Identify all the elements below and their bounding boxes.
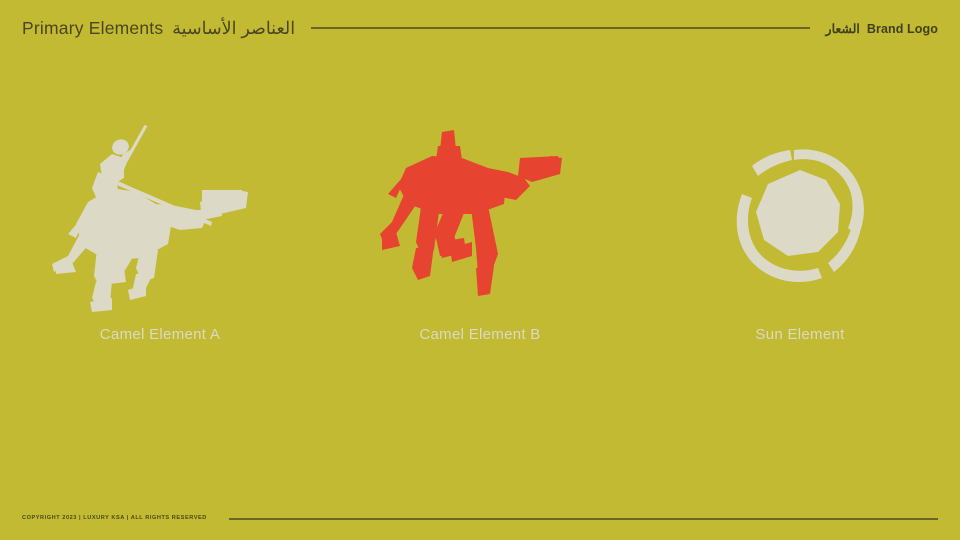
slide-header: Primary Elements العناصر الأساسية الشعار… [0,0,960,58]
brand-logo: الشعار Brand Logo [826,23,938,36]
brand-logo-en: Brand Logo [867,23,938,36]
primary-elements-row: Camel Element A [0,108,960,378]
page-title-en: Primary Elements [22,20,163,38]
sun-icon [720,108,880,323]
element-label: Camel Element A [100,327,220,342]
element-card-sun[interactable]: Sun Element [640,108,960,378]
element-card-camel-b[interactable]: Camel Element B [320,108,640,378]
brand-guidelines-slide: Primary Elements العناصر الأساسية الشعار… [0,0,960,540]
page-title-ar: العناصر الأساسية [172,20,295,38]
element-label: Sun Element [755,327,844,342]
brand-logo-ar: الشعار [826,23,860,36]
page-title: Primary Elements العناصر الأساسية [22,20,295,38]
footer-divider [229,518,938,520]
element-card-camel-a[interactable]: Camel Element A [0,108,320,378]
header-divider [311,27,809,29]
slide-footer: COPYRIGHT 2023 | LUXURY KSA | ALL RIGHTS… [0,498,960,540]
copyright-text: COPYRIGHT 2023 | LUXURY KSA | ALL RIGHTS… [22,516,207,522]
camel-with-rider-icon [50,108,270,323]
element-label: Camel Element B [419,327,540,342]
running-camel-icon [380,108,580,323]
